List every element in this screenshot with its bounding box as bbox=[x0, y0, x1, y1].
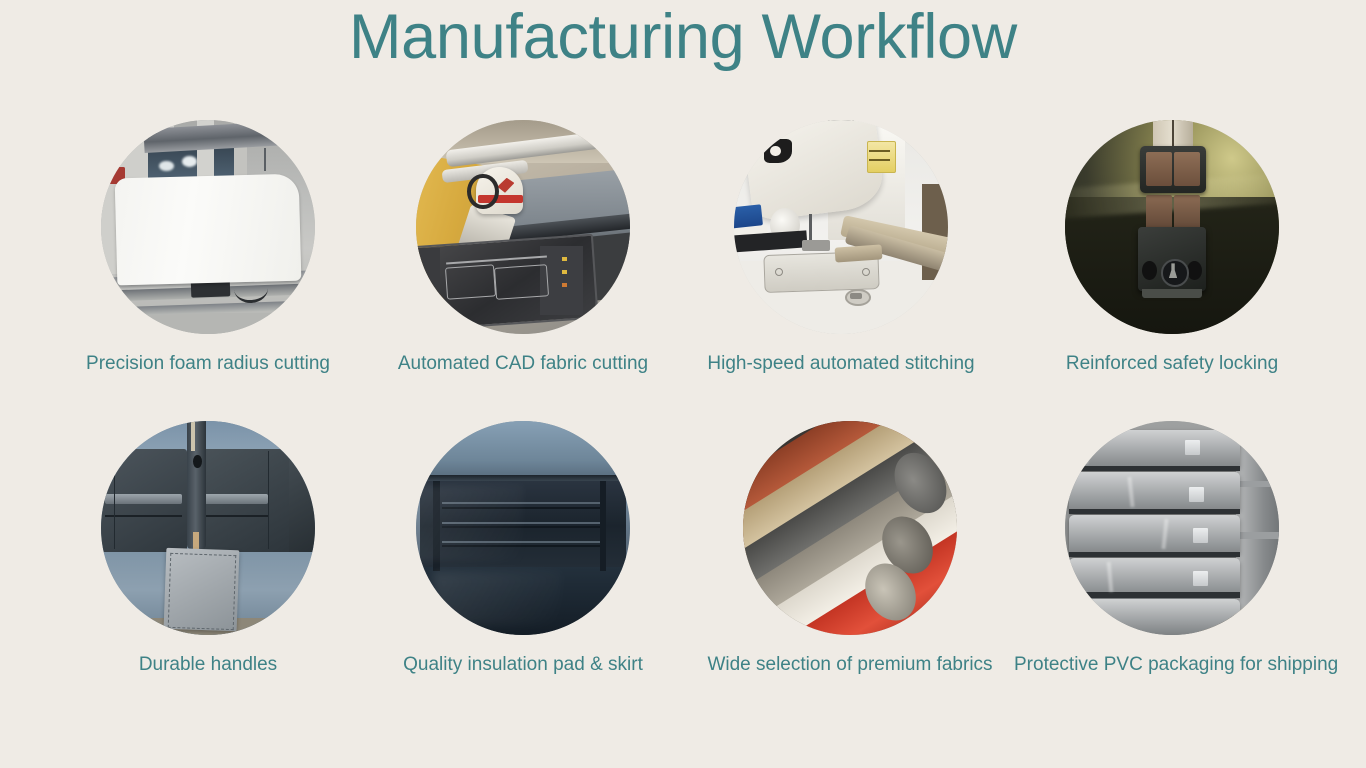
workflow-item-foam-cutting[interactable]: Precision foam radius cutting bbox=[50, 108, 366, 376]
insulation-pad-caption: Quality insulation pad & skirt bbox=[365, 653, 681, 677]
workflow-grid: Precision foam radius cutting bbox=[0, 108, 1366, 710]
workflow-item-pvc-packaging[interactable]: Protective PVC packaging for shipping bbox=[1014, 409, 1330, 677]
cad-cutting-caption: Automated CAD fabric cutting bbox=[365, 352, 681, 376]
workflow-item-safety-locking[interactable]: Reinforced safety locking bbox=[1014, 108, 1330, 376]
workflow-item-durable-handles[interactable]: Durable handles bbox=[50, 409, 366, 677]
pvc-packaging-image[interactable] bbox=[1065, 421, 1279, 635]
premium-fabrics-caption: Wide selection of premium fabrics bbox=[692, 653, 1008, 677]
slide: Manufacturing Workflow Pr bbox=[0, 0, 1366, 768]
automated-stitching-caption: High-speed automated stitching bbox=[683, 352, 999, 376]
workflow-item-premium-fabrics[interactable]: Wide selection of premium fabrics bbox=[692, 409, 1008, 677]
cad-cutting-image[interactable] bbox=[416, 120, 630, 334]
page-title: Manufacturing Workflow bbox=[0, 2, 1366, 73]
safety-locking-image[interactable] bbox=[1065, 120, 1279, 334]
workflow-item-insulation-pad[interactable]: Quality insulation pad & skirt bbox=[365, 409, 681, 677]
durable-handles-image[interactable] bbox=[101, 421, 315, 635]
workflow-item-cad-cutting[interactable]: Automated CAD fabric cutting bbox=[365, 108, 681, 376]
workflow-item-automated-stitching[interactable]: High-speed automated stitching bbox=[683, 108, 999, 376]
safety-locking-caption: Reinforced safety locking bbox=[1014, 352, 1330, 376]
pvc-packaging-caption: Protective PVC packaging for shipping bbox=[1014, 653, 1330, 677]
automated-stitching-image[interactable] bbox=[734, 120, 948, 334]
foam-cutting-caption: Precision foam radius cutting bbox=[50, 352, 366, 376]
insulation-pad-image[interactable] bbox=[416, 421, 630, 635]
durable-handles-caption: Durable handles bbox=[50, 653, 366, 677]
workflow-row-1: Precision foam radius cutting bbox=[0, 108, 1366, 409]
foam-cutting-image[interactable] bbox=[101, 120, 315, 334]
workflow-row-2: Durable handles Quality insulation pad &… bbox=[0, 409, 1366, 710]
premium-fabrics-image[interactable] bbox=[743, 421, 957, 635]
